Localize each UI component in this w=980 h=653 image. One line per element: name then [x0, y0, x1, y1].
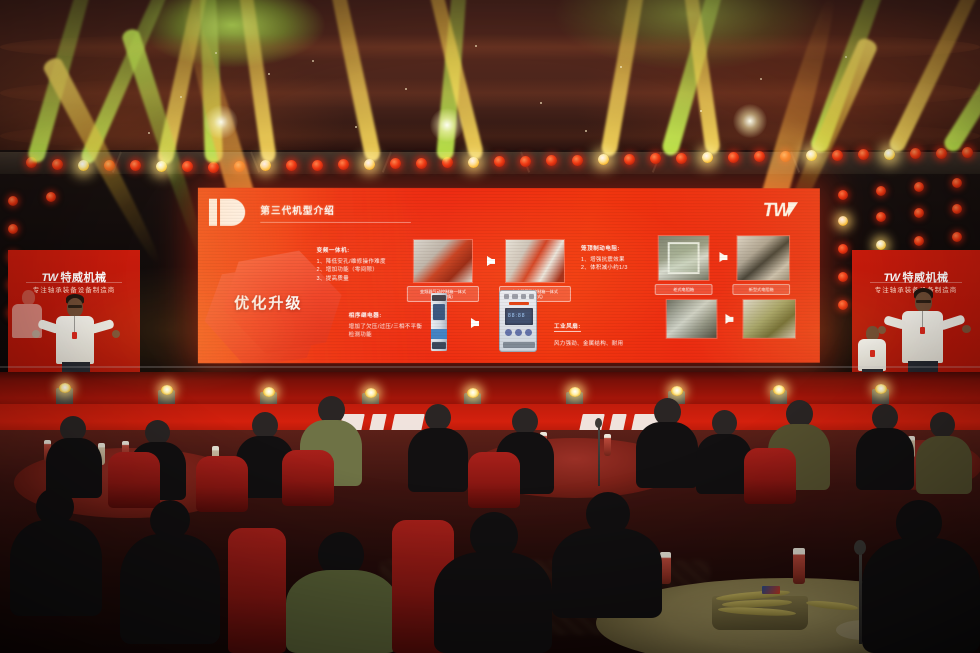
water-bottle: [793, 548, 805, 584]
ceiling-drape-band: [0, 34, 980, 60]
photo-caption: 新型式电阻箱: [732, 284, 790, 295]
side-banner-right: TW特威机械 专注轴承装备设备制造商: [852, 250, 980, 390]
d-mark-icon: [209, 199, 248, 226]
chair: [196, 456, 248, 512]
product-photo-fan-b: [743, 300, 795, 338]
side-banner-rule: [870, 282, 962, 283]
spotlight-flare: [733, 104, 767, 138]
chair: [282, 450, 334, 506]
block-item: 增加了欠压/过压/三相不平衡: [349, 323, 423, 332]
tw-triangle-icon: [788, 202, 798, 217]
chair: [468, 452, 520, 508]
slide-block-industrial-fan: 工业风扇: 风力强劲、金属结构、耐用: [554, 315, 623, 348]
block-heading: 工业风扇:: [554, 322, 581, 332]
microphone-stand: [598, 424, 600, 486]
device-phase-relay: [431, 293, 447, 351]
product-photo-inverter-old: [414, 240, 472, 282]
block-heading: 变频一体机:: [317, 246, 386, 254]
water-bottle: [604, 434, 611, 456]
stage-rail: [0, 366, 980, 368]
smartphone[interactable]: [762, 586, 780, 594]
slide-block-brake-resistor: 笼顶制动电阻: 1、增强抗震效果 2、体积减小约1/3: [581, 244, 628, 272]
tw-brand-logo: TW: [763, 200, 798, 222]
chair: [108, 452, 160, 508]
ceiling-drape-band: [0, 122, 980, 150]
block-item: 1、降低安孔/维修操作难度: [317, 257, 386, 266]
slide-block-inverter: 变频一体机: 1、降低安孔/维修操作难度 2、增加功能（零间隙） 3、提高质量: [317, 246, 386, 283]
led-screen-slide: 第三代机型介绍 TW 优化升级 变频一体机: 1、降低安孔/维修操作难度 2、增…: [198, 188, 820, 364]
arrow-right-icon: [719, 252, 727, 262]
product-photo-inverter-new: [506, 240, 564, 282]
side-banner-left: TW特威机械 专注轴承装备设备制造商: [8, 250, 140, 390]
venue-scene: 第三代机型介绍 TW 优化升级 变频一体机: 1、降低安孔/维修操作难度 2、增…: [0, 0, 980, 653]
slide-title: 第三代机型介绍: [260, 203, 335, 217]
block-item: 2、增加功能（零间隙）: [317, 266, 386, 275]
chair: [228, 528, 286, 653]
block-item: 2、体积减小约1/3: [581, 264, 628, 272]
microphone-head-icon: [854, 540, 866, 555]
spotlight-flare: [430, 108, 464, 142]
product-photo-resistor-new: [737, 236, 789, 280]
block-item: 3、提高质量: [317, 274, 386, 283]
tw-brand-text: TW: [763, 200, 790, 221]
product-photo-resistor-old: [659, 236, 709, 280]
block-item: 检测功能: [349, 331, 423, 340]
photo-caption: 老式电阻箱: [655, 284, 713, 295]
ceiling: [0, 0, 980, 168]
chair: [744, 448, 796, 504]
product-photo-fan-a: [667, 300, 717, 338]
arrow-right-icon: [471, 318, 479, 328]
side-banner-rule: [26, 282, 121, 283]
side-banner-tagline: 专注轴承装备设备制造商: [33, 284, 116, 294]
arrow-right-icon: [487, 256, 495, 266]
ceiling-drape-band: [0, 78, 980, 108]
block-heading: 相序继电器:: [349, 311, 423, 319]
spotlight-flare: [204, 105, 238, 139]
slide-title-rule: [260, 222, 411, 223]
slide-block-phase-relay: 相序继电器: 增加了欠压/过压/三相不平衡 检测功能: [349, 311, 423, 340]
block-heading: 笼顶制动电阻:: [581, 244, 628, 252]
microphone-head-icon: [595, 418, 602, 428]
block-item: 风力强劲、金属结构、耐用: [554, 339, 623, 348]
device-controller: 88:88: [499, 290, 537, 352]
arrow-right-icon: [725, 314, 733, 324]
hexagon-label: 优化升级: [234, 292, 302, 313]
block-item: 1、增强抗震效果: [581, 256, 628, 264]
